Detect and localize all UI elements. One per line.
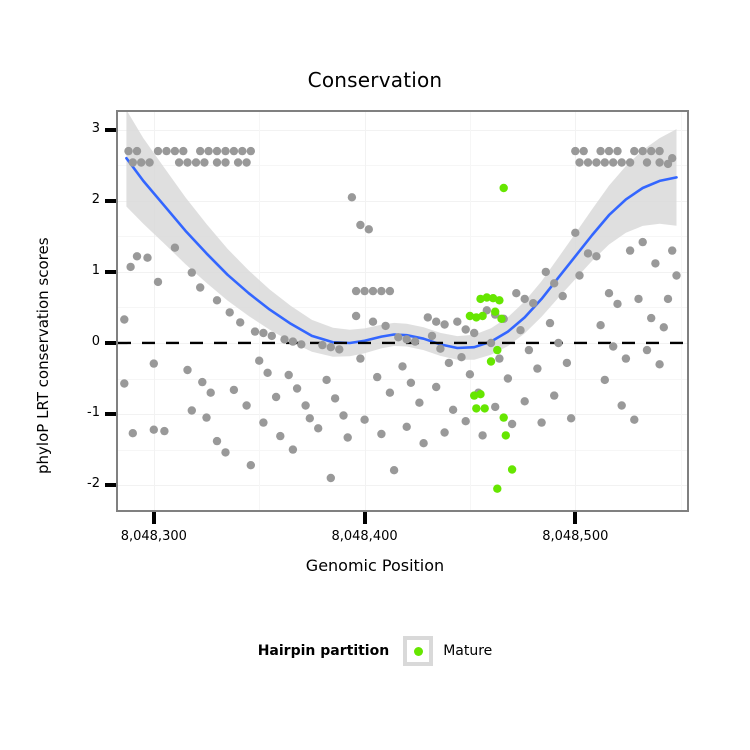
data-point — [360, 287, 368, 295]
y-tick-mark — [105, 270, 116, 274]
data-point — [242, 158, 250, 166]
data-point — [289, 337, 297, 345]
legend-title: Hairpin partition — [258, 643, 389, 659]
data-point — [230, 147, 238, 155]
data-point — [352, 312, 360, 320]
data-point — [487, 357, 495, 365]
data-point — [394, 333, 402, 341]
data-point — [154, 147, 162, 155]
data-point — [618, 158, 626, 166]
data-point — [478, 431, 486, 439]
data-point — [571, 147, 579, 155]
x-tick-mark — [152, 512, 156, 524]
data-point — [259, 329, 267, 337]
data-point — [655, 147, 663, 155]
data-point — [403, 423, 411, 431]
data-point — [584, 249, 592, 257]
data-point — [592, 252, 600, 260]
data-point — [647, 147, 655, 155]
data-point — [491, 403, 499, 411]
data-point — [160, 427, 168, 435]
data-point — [403, 335, 411, 343]
data-point — [386, 287, 394, 295]
data-point — [508, 465, 516, 473]
data-point — [280, 335, 288, 343]
y-tick-label: 1 — [56, 263, 100, 278]
data-point — [470, 329, 478, 337]
data-point — [373, 373, 381, 381]
data-point — [335, 345, 343, 353]
data-point — [234, 158, 242, 166]
data-point — [213, 437, 221, 445]
data-point — [478, 312, 486, 320]
data-point — [609, 158, 617, 166]
series-other — [120, 147, 681, 482]
y-tick-label: -1 — [56, 405, 100, 420]
data-point — [550, 391, 558, 399]
data-point — [487, 339, 495, 347]
data-point — [575, 158, 583, 166]
data-point — [664, 160, 672, 168]
data-point — [301, 401, 309, 409]
data-point — [618, 401, 626, 409]
data-point — [462, 417, 470, 425]
data-point — [440, 320, 448, 328]
data-point — [575, 271, 583, 279]
data-point — [289, 445, 297, 453]
data-point — [318, 341, 326, 349]
data-point — [339, 411, 347, 419]
data-point — [580, 147, 588, 155]
data-point — [226, 308, 234, 316]
data-point — [306, 414, 314, 422]
data-point — [268, 332, 276, 340]
data-point — [497, 315, 505, 323]
data-point — [634, 295, 642, 303]
data-point — [563, 359, 571, 367]
data-point — [493, 346, 501, 354]
y-tick-mark — [105, 483, 116, 487]
data-point — [276, 432, 284, 440]
data-point — [660, 323, 668, 331]
data-point — [491, 308, 499, 316]
data-point — [493, 485, 501, 493]
x-tick-label: 8,048,300 — [94, 529, 214, 544]
y-tick-mark — [105, 341, 116, 345]
data-point — [500, 184, 508, 192]
data-point — [129, 429, 137, 437]
data-point — [567, 414, 575, 422]
data-point — [445, 359, 453, 367]
data-point — [407, 379, 415, 387]
data-point — [546, 319, 554, 327]
data-point — [647, 314, 655, 322]
data-point — [601, 158, 609, 166]
data-point — [500, 413, 508, 421]
data-point — [188, 268, 196, 276]
data-point — [327, 343, 335, 351]
data-point — [613, 147, 621, 155]
data-point — [202, 413, 210, 421]
data-point — [672, 271, 680, 279]
data-point — [247, 461, 255, 469]
x-tick-label: 8,048,500 — [515, 529, 635, 544]
data-point — [356, 354, 364, 362]
data-point — [626, 158, 634, 166]
data-point — [605, 289, 613, 297]
y-tick-label: 3 — [56, 121, 100, 136]
data-point — [120, 315, 128, 323]
data-point — [428, 332, 436, 340]
data-point — [537, 418, 545, 426]
data-point — [263, 369, 271, 377]
data-point — [415, 399, 423, 407]
data-point — [390, 466, 398, 474]
data-point — [171, 244, 179, 252]
data-point — [643, 346, 651, 354]
data-point — [440, 428, 448, 436]
data-point — [360, 416, 368, 424]
data-point — [251, 327, 259, 335]
data-point — [584, 158, 592, 166]
data-point — [424, 313, 432, 321]
data-point — [143, 254, 151, 262]
data-point — [639, 238, 647, 246]
data-point — [124, 147, 132, 155]
data-point — [411, 337, 419, 345]
data-point — [179, 147, 187, 155]
data-point — [221, 448, 229, 456]
data-point — [453, 318, 461, 326]
data-point — [664, 295, 672, 303]
data-point — [466, 370, 474, 378]
data-point — [550, 279, 558, 287]
data-point — [432, 383, 440, 391]
data-point — [521, 295, 529, 303]
data-point — [605, 147, 613, 155]
legend-label-mature: Mature — [443, 643, 492, 659]
data-point — [133, 147, 141, 155]
data-point — [651, 259, 659, 267]
y-tick-mark — [105, 128, 116, 132]
data-point — [259, 418, 267, 426]
data-point — [238, 147, 246, 155]
data-point — [133, 252, 141, 260]
data-point — [630, 147, 638, 155]
data-point — [314, 424, 322, 432]
legend-key-mature[interactable] — [403, 636, 433, 666]
x-tick-mark — [363, 512, 367, 524]
data-point — [213, 296, 221, 304]
data-point — [293, 384, 301, 392]
data-point — [457, 353, 465, 361]
x-tick-label: 8,048,400 — [305, 529, 425, 544]
data-point — [369, 318, 377, 326]
data-point — [198, 378, 206, 386]
data-point — [481, 404, 489, 412]
y-axis-label: phyloP LRT conservation scores — [34, 237, 52, 474]
data-point — [630, 416, 638, 424]
conservation-plot-figure: Conservation phyloP LRT conservation sco… — [0, 0, 750, 750]
legend-dot-icon — [414, 647, 423, 656]
data-point — [137, 158, 145, 166]
data-point — [221, 147, 229, 155]
data-point — [236, 318, 244, 326]
data-point — [150, 359, 158, 367]
data-point — [145, 158, 153, 166]
data-point — [327, 474, 335, 482]
data-point — [432, 318, 440, 326]
data-point — [592, 158, 600, 166]
data-point — [626, 246, 634, 254]
data-point — [129, 158, 137, 166]
data-point — [126, 263, 134, 271]
legend: Hairpin partition Mature — [0, 636, 750, 666]
data-point — [559, 292, 567, 300]
data-point — [381, 322, 389, 330]
x-axis-label: Genomic Position — [0, 556, 750, 575]
data-point — [352, 287, 360, 295]
plot-panel — [116, 110, 689, 512]
data-point — [272, 393, 280, 401]
data-point — [171, 147, 179, 155]
data-point — [596, 321, 604, 329]
data-point — [150, 426, 158, 434]
plot-title: Conservation — [0, 68, 750, 92]
data-point — [356, 221, 364, 229]
data-point — [183, 366, 191, 374]
data-point — [255, 357, 263, 365]
data-point — [285, 371, 293, 379]
data-point — [377, 430, 385, 438]
data-point — [204, 147, 212, 155]
x-tick-mark — [573, 512, 577, 524]
data-point — [449, 406, 457, 414]
data-point — [502, 431, 510, 439]
data-point — [571, 229, 579, 237]
y-tick-label: 2 — [56, 192, 100, 207]
data-point — [639, 147, 647, 155]
data-point — [495, 296, 503, 304]
data-point — [609, 342, 617, 350]
data-point — [386, 389, 394, 397]
data-point — [221, 158, 229, 166]
data-point — [120, 379, 128, 387]
panel-inner — [118, 112, 687, 510]
data-point — [398, 362, 406, 370]
data-point — [162, 147, 170, 155]
y-tick-label: -2 — [56, 476, 100, 491]
data-point — [419, 439, 427, 447]
data-point — [188, 406, 196, 414]
data-point — [436, 345, 444, 353]
data-point — [213, 158, 221, 166]
data-point — [196, 147, 204, 155]
data-point — [613, 300, 621, 308]
data-point — [476, 390, 484, 398]
y-tick-label: 0 — [56, 334, 100, 349]
data-point — [344, 433, 352, 441]
data-point — [529, 299, 537, 307]
data-point — [154, 278, 162, 286]
data-point — [207, 389, 215, 397]
data-point — [175, 158, 183, 166]
data-point — [521, 397, 529, 405]
data-point — [655, 360, 663, 368]
y-tick-mark — [105, 199, 116, 203]
data-point — [512, 289, 520, 297]
data-point — [525, 346, 533, 354]
data-point — [377, 287, 385, 295]
data-point — [297, 340, 305, 348]
data-point — [596, 147, 604, 155]
data-point — [472, 404, 480, 412]
plot-canvas — [118, 112, 687, 510]
data-point — [247, 147, 255, 155]
data-point — [369, 287, 377, 295]
data-point — [192, 158, 200, 166]
data-point — [533, 364, 541, 372]
data-point — [331, 394, 339, 402]
data-point — [508, 420, 516, 428]
data-point — [322, 376, 330, 384]
data-point — [516, 326, 524, 334]
data-point — [462, 325, 470, 333]
data-point — [230, 386, 238, 394]
data-point — [542, 268, 550, 276]
data-point — [365, 225, 373, 233]
data-point — [643, 158, 651, 166]
data-point — [183, 158, 191, 166]
data-point — [200, 158, 208, 166]
data-point — [213, 147, 221, 155]
data-point — [655, 158, 663, 166]
data-point — [601, 376, 609, 384]
data-point — [348, 193, 356, 201]
data-point — [196, 283, 204, 291]
data-point — [504, 374, 512, 382]
data-point — [668, 246, 676, 254]
y-tick-mark — [105, 412, 116, 416]
data-point — [554, 339, 562, 347]
data-point — [495, 354, 503, 362]
data-point — [622, 354, 630, 362]
data-point — [242, 401, 250, 409]
